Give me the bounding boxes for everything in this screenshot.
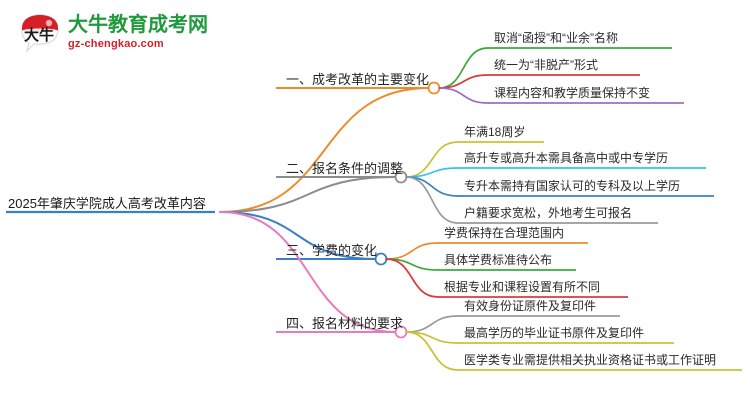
mindmap-page: 大牛 大牛教育成考网 gz-chengkao.com 2025年肇庆学院成人高考… xyxy=(0,0,750,410)
branch-connector-1 xyxy=(220,88,429,212)
leaf-connector-1-3 xyxy=(439,88,488,103)
branch-label-3: 三、学费的变化 xyxy=(286,244,377,257)
leaf-connector-2-4 xyxy=(406,177,458,223)
branch-label-2: 二、报名条件的调整 xyxy=(286,162,403,175)
leaf-connector-3-1 xyxy=(386,243,438,259)
leaf-label-2-1: 年满18周岁 xyxy=(464,126,525,138)
branch-label-4: 四、报名材料的要求 xyxy=(286,317,403,330)
leaf-label-1-1: 取消“函授”和“业余”名称 xyxy=(494,32,618,44)
leaf-label-3-3: 根据专业和课程设置有所不同 xyxy=(444,281,600,293)
branch-node-3[interactable] xyxy=(376,254,387,265)
leaf-label-4-2: 最高学历的毕业证书原件及复印件 xyxy=(464,327,644,339)
leaf-label-1-3: 课程内容和教学质量保持不变 xyxy=(494,87,650,99)
root-node-label: 2025年肇庆学院成人高考改革内容 xyxy=(8,197,206,210)
branch-connector-2 xyxy=(220,177,396,212)
branch-connector-4 xyxy=(220,212,396,332)
leaf-label-3-2: 具体学费标准待公布 xyxy=(444,254,552,266)
branch-label-1: 一、成考改革的主要变化 xyxy=(286,73,429,86)
branch-node-1[interactable] xyxy=(429,83,440,94)
leaf-label-4-3: 医学类专业需提供相关执业资格证书或工作证明 xyxy=(464,354,716,366)
leaf-connector-2-3 xyxy=(406,177,458,196)
leaf-label-1-2: 统一为“非脱产”形式 xyxy=(494,59,598,71)
leaf-connector-4-1 xyxy=(406,316,458,332)
leaf-label-2-3: 专升本需持有国家认可的专科及以上学历 xyxy=(464,180,680,192)
leaf-label-2-4: 户籍要求宽松，外地考生可报名 xyxy=(464,207,632,219)
leaf-label-4-1: 有效身份证原件及复印件 xyxy=(464,300,596,312)
leaf-label-3-1: 学费保持在合理范围内 xyxy=(444,227,564,239)
leaf-label-2-2: 高升专或高升本需具备高中或中专学历 xyxy=(464,152,668,164)
